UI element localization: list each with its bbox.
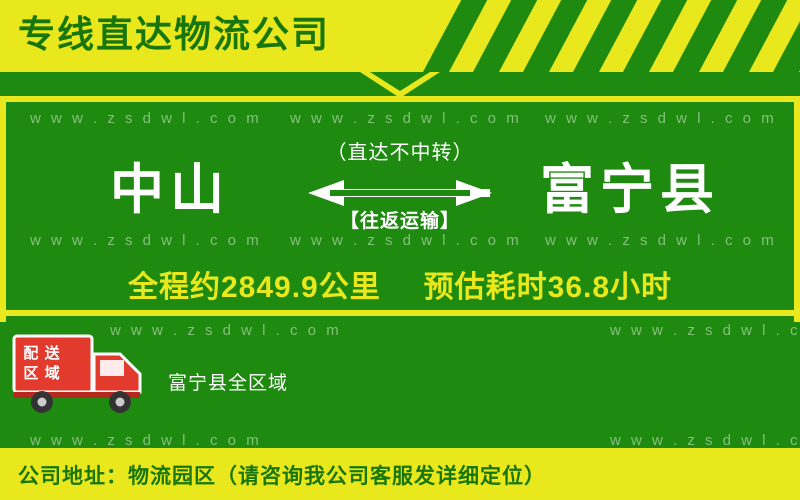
chevron-down-icon <box>360 72 440 98</box>
watermark-text: w w w . z s d w l . c o m <box>290 110 522 127</box>
header-band: 专线直达物流公司 <box>0 0 800 72</box>
delivery-badge-line1: 配 送 <box>20 344 64 364</box>
delivery-row: 配 送 区 域 富宁县全区域 <box>0 330 800 420</box>
watermark-text: w w w . z s d w l . c o m <box>30 432 262 449</box>
delivery-badge-line2: 区 域 <box>20 364 64 384</box>
company-address: 公司地址：物流园区（请咨询我公司客服发详细定位） <box>18 460 546 490</box>
watermark-text: w w w . z s d w l . c o m <box>30 110 262 127</box>
watermark-text: w w w . z s d w l . c o m <box>610 432 800 449</box>
logistics-poster: w w w . z s d w l . c o m w w w . z s d … <box>0 0 800 500</box>
page-title: 专线直达物流公司 <box>18 10 330 60</box>
footer-band: 公司地址：物流园区（请咨询我公司客服发详细定位） <box>0 448 800 500</box>
distance-value: 全程约2849.9公里 <box>128 271 381 304</box>
stats-row: 全程约2849.9公里 预估耗时36.8小时 <box>0 262 800 306</box>
route-row: 中山 （直达不中转） 【往返运输】 富宁县 <box>0 150 800 260</box>
delivery-badge: 配 送 区 域 <box>20 344 64 386</box>
coverage-text: 富宁县全区域 <box>168 368 288 395</box>
header-stripes <box>420 0 800 72</box>
origin-city: 中山 <box>20 150 320 230</box>
destination-city: 富宁县 <box>480 150 780 230</box>
watermark-text: w w w . z s d w l . c o m <box>545 110 777 127</box>
duration-value: 预估耗时36.8小时 <box>424 271 672 304</box>
